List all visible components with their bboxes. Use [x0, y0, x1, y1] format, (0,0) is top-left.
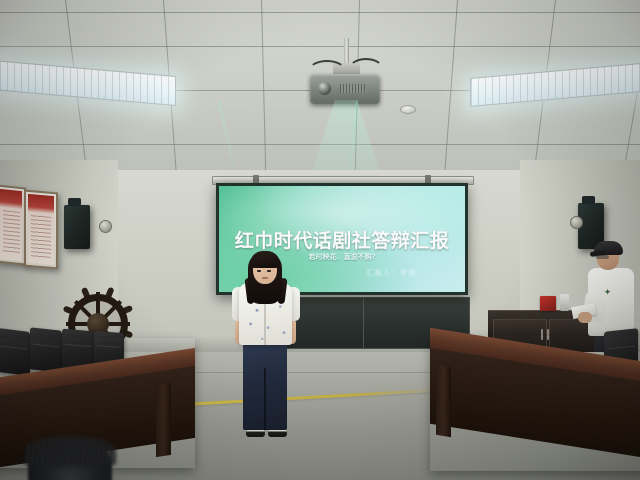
- ceiling-grid-line: [260, 0, 267, 178]
- slide-title: 红巾时代话剧社答辩汇报: [219, 226, 465, 253]
- table-leg: [156, 383, 171, 457]
- presenter-hair-top: [250, 251, 280, 268]
- blackboard-seam: [363, 298, 364, 348]
- wall-poster-1: [0, 184, 26, 265]
- presenter-pants: [243, 342, 287, 430]
- speaker-bracket: [68, 198, 81, 206]
- table-leg: [436, 365, 451, 437]
- wall-poster-2: [24, 190, 58, 270]
- ceiling-grid-line: [443, 0, 461, 178]
- presenter-eye-left: [257, 270, 261, 272]
- pant-seam: [264, 368, 266, 430]
- ceiling-grid-line: [0, 46, 640, 47]
- poster-text-lines: [31, 215, 51, 260]
- wall-fixture-right: [570, 216, 583, 229]
- presenter-eye-right: [267, 270, 271, 272]
- smoke-detector-icon: [400, 105, 416, 114]
- poster-face: [0, 189, 22, 261]
- slide-presenter-credit: 汇报人：李静: [366, 268, 417, 278]
- projector-lens-icon: [318, 82, 331, 95]
- ceiling-grid-line: [0, 144, 640, 145]
- right-person-hand: [578, 312, 592, 323]
- poster-face: [28, 194, 54, 265]
- wall-speaker-left: [64, 205, 90, 249]
- poster-text-lines: [3, 210, 20, 255]
- speaker-bracket: [582, 196, 595, 204]
- ceiling-grid-line: [0, 12, 640, 13]
- red-object-on-cabinet: [540, 296, 556, 311]
- presenter-mouth: [262, 277, 268, 279]
- audience-hair-foreground: [24, 436, 116, 466]
- photo-scene: 红巾时代话剧社答辩汇报 若时映花、直说不购? 汇报人：李静 ✦: [0, 0, 640, 480]
- white-bottle: [560, 294, 569, 311]
- conference-table-right: [430, 336, 640, 471]
- glasses-icon: [596, 255, 609, 259]
- wall-fixture-left: [99, 220, 112, 233]
- projector-vent: [340, 84, 366, 93]
